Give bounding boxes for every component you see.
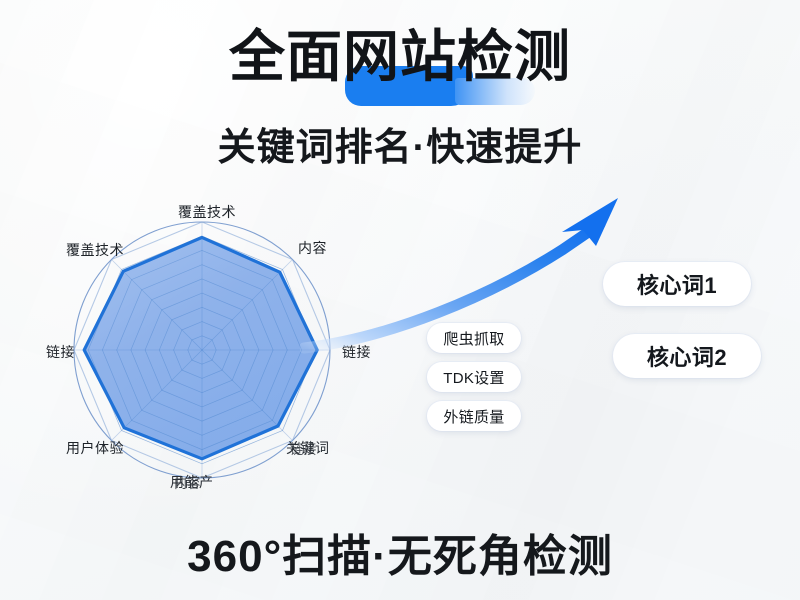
radar-chart: 覆盖技术 内容 链接 关键词 链接 用能产 内容 用户体验 链接 覆盖技术 xyxy=(30,190,390,510)
headline-container: 全面网站检测 xyxy=(0,28,800,87)
pill-backlink-quality-label: 外链质量 xyxy=(443,406,504,427)
pill-tdk-settings[interactable]: TDK设置 xyxy=(427,362,521,392)
page-title: 全面网站检测 xyxy=(229,28,571,87)
poster-canvas: 全面网站检测 关键词排名·快速提升 xyxy=(0,0,800,600)
radar-label-right: 链接 xyxy=(342,342,371,362)
arrow-head xyxy=(562,198,618,246)
radar-label-left: 链接 xyxy=(46,342,75,362)
radar-label-bottom: 用能产 内容 xyxy=(170,472,214,492)
pill-core-keyword-2-label: 核心词2 xyxy=(647,340,727,372)
radar-label-bottom-right: 关键词 链接 xyxy=(286,438,330,458)
radar-label-top-right: 内容 xyxy=(298,238,327,258)
pill-crawler-fetch-label: 爬虫抓取 xyxy=(443,328,504,349)
radar-label-top: 覆盖技术 xyxy=(178,202,236,222)
footer-container: 360°扫描·无死角检测 xyxy=(0,520,800,584)
pill-crawler-fetch[interactable]: 爬虫抓取 xyxy=(427,323,521,353)
pill-core-keyword-1-label: 核心词1 xyxy=(637,268,717,300)
radar-label-bottom-right-overlay: 链接 xyxy=(290,439,317,459)
page-subtitle: 关键词排名·快速提升 xyxy=(218,116,583,171)
radar-label-bottom-overlay: 内容 xyxy=(174,473,201,493)
radar-label-top-left: 覆盖技术 xyxy=(66,240,124,260)
footer-tagline: 360°扫描·无死角检测 xyxy=(187,520,613,584)
subheadline-container: 关键词排名·快速提升 xyxy=(0,116,800,171)
pill-core-keyword-1[interactable]: 核心词1 xyxy=(603,262,751,306)
pill-backlink-quality[interactable]: 外链质量 xyxy=(427,401,521,431)
radar-label-bottom-left: 用户体验 xyxy=(66,438,124,458)
pill-tdk-settings-label: TDK设置 xyxy=(443,367,505,388)
pill-core-keyword-2[interactable]: 核心词2 xyxy=(613,334,761,378)
radar-chart-svg xyxy=(30,190,390,510)
